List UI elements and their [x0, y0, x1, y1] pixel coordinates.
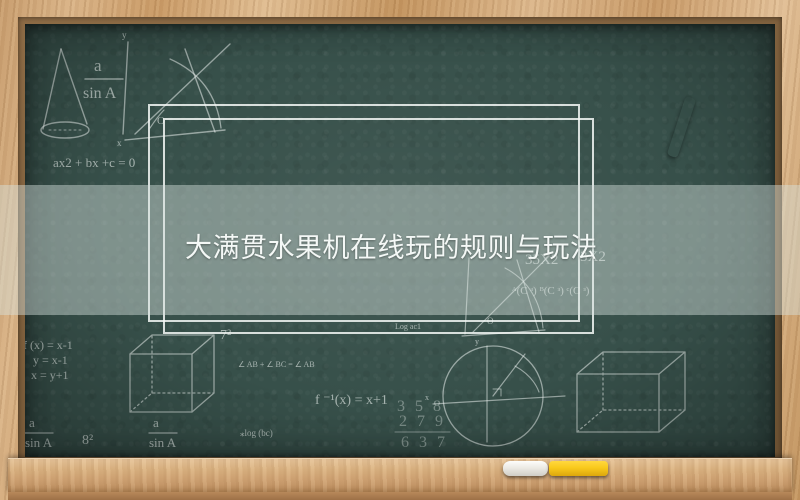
yellow-chalk-piece-icon — [549, 461, 608, 476]
decorative-rect-inner — [163, 118, 594, 334]
screenshot-stage: a sin A ax2 + bx +c = 0 y x O — [0, 0, 800, 500]
chalk-ledge — [8, 458, 792, 493]
chalk-ledge-lip — [8, 492, 792, 500]
page-title: 大满贯水果机在线玩的规则与玩法 — [185, 232, 705, 266]
white-chalk-piece-icon — [503, 461, 548, 476]
